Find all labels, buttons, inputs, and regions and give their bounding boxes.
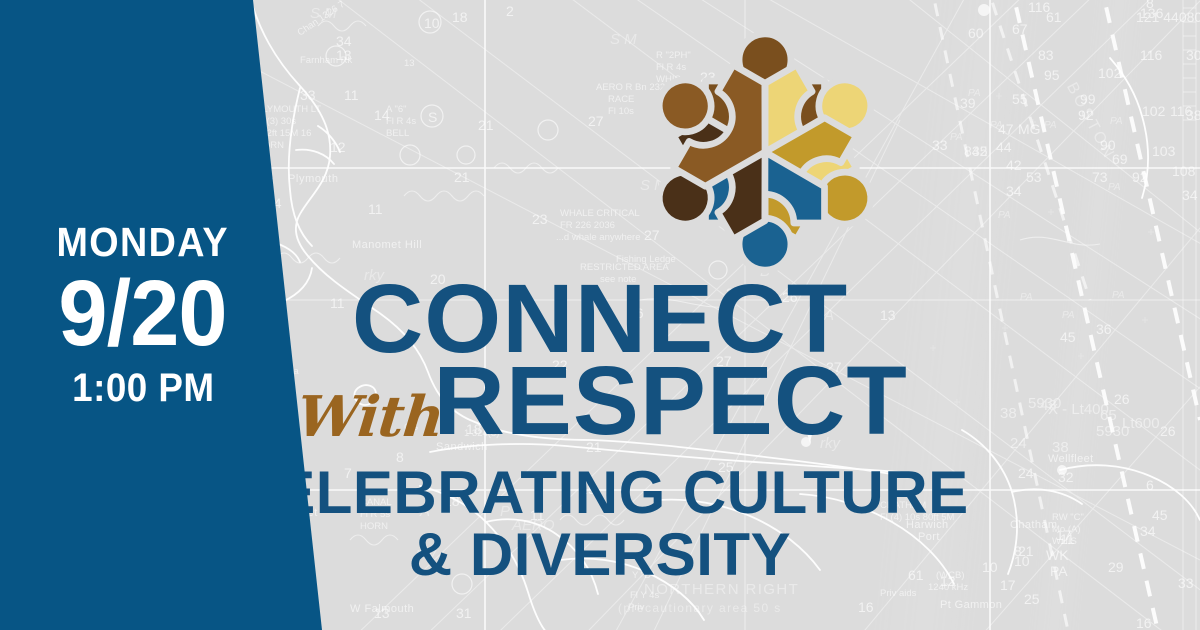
- svg-text:S: S: [428, 109, 437, 125]
- svg-text:8: 8: [1014, 543, 1022, 559]
- svg-text:53: 53: [1026, 169, 1042, 185]
- date-panel-content: MONDAY 9/20 1:00 PM: [0, 0, 286, 630]
- svg-text:Pt Gammon: Pt Gammon: [940, 599, 1002, 611]
- svg-text:Fl (4) 10s 80ft 5M: Fl (4) 10s 80ft 5M: [880, 512, 955, 523]
- svg-text:Fl R 5s: Fl R 5s: [360, 509, 390, 520]
- svg-text:10: 10: [982, 559, 998, 575]
- svg-text:103: 103: [1152, 143, 1176, 159]
- svg-text:29: 29: [726, 285, 742, 301]
- svg-text:95: 95: [1044, 67, 1060, 83]
- svg-text:11: 11: [530, 507, 545, 523]
- svg-text:24: 24: [1018, 465, 1034, 481]
- svg-text:33: 33: [1178, 575, 1194, 591]
- svg-text:26: 26: [1114, 391, 1130, 407]
- event-poster: Duxbury Plymouth Manomet Hill Sandwich O…: [0, 0, 1200, 630]
- event-time: 1:00 PM: [72, 368, 214, 408]
- svg-text:47: 47: [998, 121, 1014, 137]
- svg-text:34: 34: [336, 33, 352, 49]
- svg-text:11: 11: [344, 87, 359, 103]
- svg-text:121 44080: 121 44080: [1136, 9, 1200, 25]
- svg-text:99: 99: [1080, 91, 1096, 107]
- svg-text:27: 27: [826, 359, 842, 375]
- svg-text:27: 27: [716, 353, 732, 369]
- svg-text:21: 21: [478, 117, 494, 133]
- svg-text:11: 11: [368, 201, 383, 217]
- svg-text:Port: Port: [918, 531, 940, 543]
- svg-text:WK: WK: [1046, 547, 1069, 563]
- svg-text:10: 10: [424, 15, 440, 31]
- svg-text:25: 25: [1024, 591, 1040, 607]
- svg-text:8: 8: [396, 449, 404, 465]
- svg-text:27: 27: [588, 113, 604, 129]
- svg-text:65: 65: [1100, 407, 1117, 424]
- svg-text:67: 67: [1012, 21, 1028, 37]
- svg-text:11: 11: [330, 295, 345, 311]
- svg-text:36: 36: [1096, 321, 1112, 337]
- svg-text:FR 226 2036: FR 226 2036: [560, 220, 615, 231]
- svg-text:26: 26: [782, 289, 798, 305]
- svg-text:108: 108: [1172, 163, 1196, 179]
- svg-text:CHATHAM: CHATHAM: [880, 500, 926, 511]
- svg-text:Fl 10s: Fl 10s: [608, 106, 634, 117]
- svg-text:Lt600: Lt600: [1122, 415, 1160, 432]
- svg-text:A: A: [823, 307, 834, 324]
- svg-text:55: 55: [1012, 91, 1028, 107]
- svg-text:42: 42: [1006, 157, 1022, 173]
- svg-text:13: 13: [336, 47, 352, 63]
- svg-text:45: 45: [1152, 507, 1168, 523]
- svg-text:16: 16: [1136, 615, 1152, 630]
- svg-text:61: 61: [1046, 9, 1062, 25]
- svg-text:PA: PA: [1108, 182, 1121, 193]
- svg-text:30: 30: [1186, 47, 1200, 63]
- svg-text:8: 8: [1146, 0, 1154, 11]
- svg-text:Y "D": Y "D": [632, 570, 654, 581]
- svg-text:18: 18: [444, 493, 460, 509]
- svg-text:rky: rky: [820, 435, 841, 452]
- svg-text:...d whale anywhere: ...d whale anywhere: [556, 232, 641, 243]
- svg-text:38: 38: [1186, 107, 1200, 123]
- svg-text:32: 32: [1058, 469, 1074, 485]
- svg-text:102: 102: [1142, 103, 1166, 119]
- svg-text:83: 83: [1038, 47, 1054, 63]
- svg-text:6: 6: [1146, 477, 1154, 493]
- svg-text:NORTHERN RIGHT: NORTHERN RIGHT: [644, 581, 799, 598]
- svg-text:7: 7: [344, 465, 352, 481]
- svg-text:A: A: [419, 503, 430, 520]
- svg-text:17: 17: [1000, 577, 1016, 593]
- svg-text:see note: see note: [600, 274, 636, 285]
- svg-text:Chatham: Chatham: [1010, 519, 1057, 531]
- svg-text:12: 12: [330, 139, 346, 155]
- svg-text:BELL: BELL: [386, 128, 409, 139]
- svg-text:73: 73: [1092, 169, 1108, 185]
- svg-text:21: 21: [586, 439, 602, 455]
- svg-text:S M: S M: [610, 31, 637, 48]
- svg-text:11: 11: [1060, 531, 1075, 547]
- svg-text:24: 24: [1010, 435, 1027, 452]
- svg-text:25: 25: [718, 459, 734, 475]
- svg-text:69: 69: [1112, 151, 1128, 167]
- svg-text:13: 13: [880, 307, 896, 323]
- svg-text:20: 20: [430, 271, 446, 287]
- svg-text:HORN: HORN: [360, 521, 388, 532]
- svg-text:PA: PA: [998, 210, 1011, 221]
- svg-text:Fl R 4s: Fl R 4s: [386, 116, 416, 127]
- svg-text:18: 18: [466, 421, 482, 437]
- svg-text:Manomet Hill: Manomet Hill: [352, 239, 422, 251]
- svg-text:60: 60: [968, 25, 984, 41]
- svg-text:116: 116: [1140, 47, 1163, 63]
- svg-text:45: 45: [1060, 329, 1076, 345]
- svg-text:RW "C": RW "C": [1052, 512, 1084, 523]
- svg-text:34: 34: [1006, 183, 1022, 199]
- svg-text:CG: CG: [404, 422, 418, 433]
- event-weekday: MONDAY: [57, 222, 229, 263]
- svg-text:39: 39: [960, 95, 976, 111]
- svg-text:P: P: [500, 503, 510, 520]
- svg-text:13: 13: [374, 605, 390, 621]
- svg-text:PA: PA: [1062, 310, 1075, 321]
- svg-text:16: 16: [858, 599, 874, 615]
- svg-text:92: 92: [1132, 169, 1148, 185]
- svg-text:WHALE CRITICAL: WHALE CRITICAL: [560, 208, 640, 219]
- svg-text:12: 12: [940, 573, 956, 589]
- svg-text:92: 92: [1078, 107, 1094, 123]
- svg-text:PA: PA: [1050, 563, 1068, 579]
- svg-text:33: 33: [300, 87, 316, 103]
- svg-text:14: 14: [374, 107, 390, 123]
- svg-text:RACE: RACE: [608, 94, 634, 105]
- svg-text:102: 102: [1098, 65, 1122, 81]
- svg-text:23: 23: [532, 211, 548, 227]
- svg-text:PA: PA: [1112, 290, 1125, 301]
- svg-text:13: 13: [404, 58, 415, 69]
- connect-with-respect-logo-icon: [637, 26, 893, 278]
- svg-text:PA: PA: [950, 132, 963, 143]
- svg-text:26: 26: [628, 305, 644, 321]
- svg-text:rky: rky: [364, 267, 385, 284]
- svg-text:rky: rky: [416, 545, 437, 562]
- svg-text:PA: PA: [1044, 120, 1057, 131]
- svg-text:61: 61: [908, 567, 924, 583]
- svg-text:44: 44: [996, 139, 1012, 155]
- svg-text:Plymouth: Plymouth: [288, 173, 339, 185]
- svg-text:PA: PA: [1110, 116, 1123, 127]
- svg-text:35: 35: [972, 143, 988, 159]
- svg-text:PA: PA: [1020, 292, 1033, 303]
- svg-text:34: 34: [1182, 187, 1198, 203]
- svg-text:38: 38: [1000, 405, 1017, 422]
- svg-text:Priv aids: Priv aids: [880, 588, 917, 599]
- svg-text:CANAL: CANAL: [360, 497, 392, 508]
- svg-text:21: 21: [454, 169, 470, 185]
- svg-text:22: 22: [552, 357, 568, 373]
- svg-text:MG: MG: [1018, 121, 1041, 137]
- svg-text:38: 38: [1052, 439, 1069, 456]
- svg-text:33: 33: [932, 137, 948, 153]
- svg-text:22: 22: [466, 283, 482, 299]
- svg-text:26: 26: [1160, 423, 1176, 439]
- svg-text:31: 31: [456, 605, 472, 621]
- svg-text:2: 2: [506, 3, 514, 19]
- svg-text:18: 18: [452, 9, 468, 25]
- svg-text:29: 29: [1108, 559, 1124, 575]
- event-date: 9/20: [59, 265, 227, 362]
- svg-text:Sandwich: Sandwich: [436, 441, 488, 453]
- svg-text:34: 34: [1140, 523, 1156, 539]
- svg-text:19: 19: [580, 481, 596, 497]
- svg-text:(precautionary area 50 s: (precautionary area 50 s: [618, 601, 782, 615]
- svg-text:43: 43: [1040, 397, 1057, 414]
- svg-text:S M: S M: [310, 5, 337, 22]
